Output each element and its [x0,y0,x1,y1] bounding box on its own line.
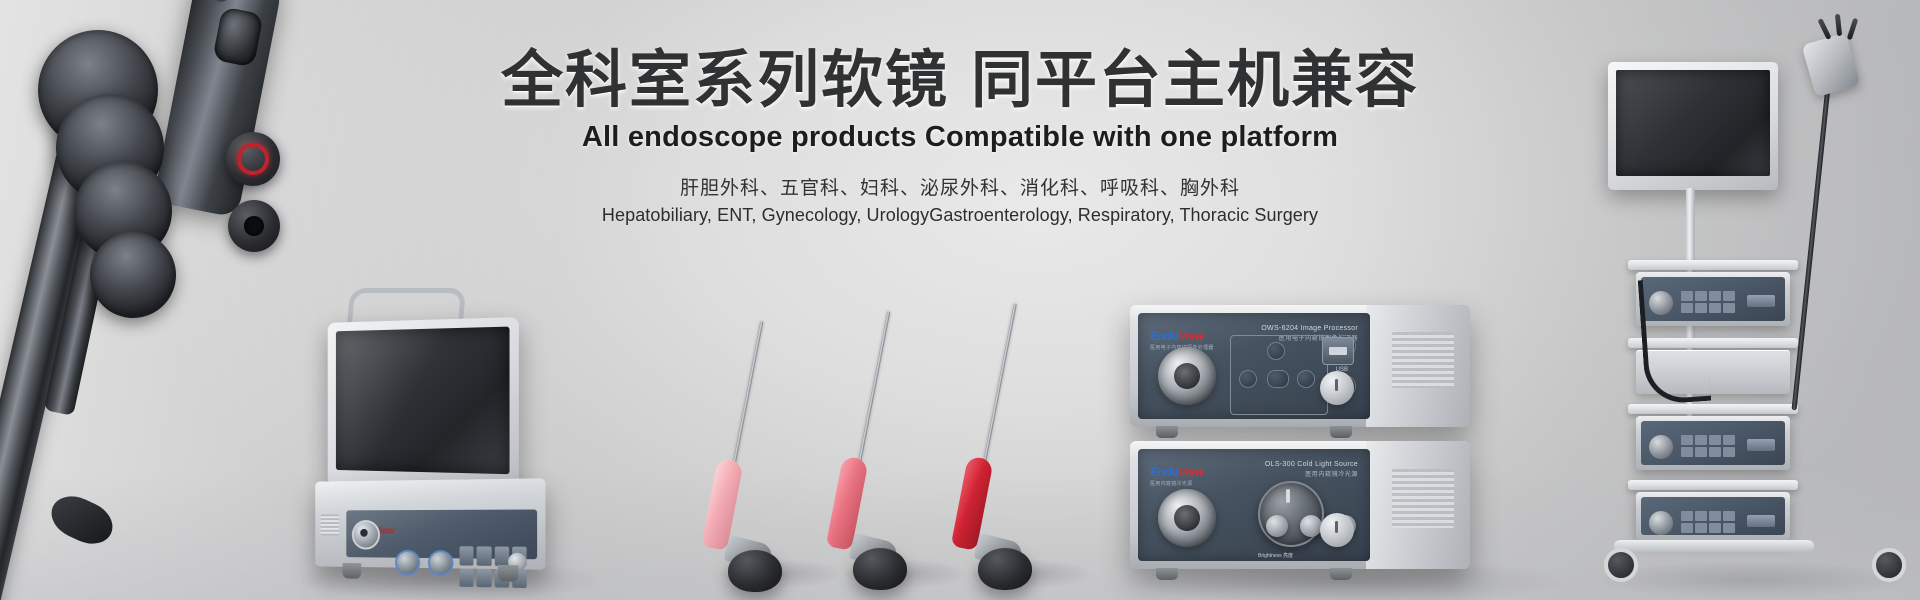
cart-shelf-top [1628,260,1798,270]
processor-side-panel [1366,305,1470,427]
processor-front-panel: EndoView医用电子内窥镜图像处理器 OWS-6204 Image Proc… [1138,313,1370,419]
processor-foot [1156,426,1178,438]
light-source-brand-subtext: 医用内窥镜冷光源 [1150,480,1204,487]
keypad-key [459,546,473,565]
light-source-scope-socket [1158,489,1216,547]
rigid-scope-red [890,300,1070,590]
cart-caster-wheel [1872,548,1906,582]
workstation-foot [498,565,519,582]
specialties-chinese: 肝胆外科、五官科、妇科、泌尿外科、消化科、呼吸科、胸外科 [0,173,1920,200]
keypad-menu-button [1267,370,1289,388]
keypad-key [1695,447,1707,457]
processor-model-en: OWS-6204 Image Processor [1261,325,1358,332]
keypad-key [1681,523,1693,533]
cart-accessory-unit [1636,492,1790,540]
scope-base-cup [978,548,1032,590]
cart-accessory-display [1747,515,1775,527]
cart-light-source-panel [1641,421,1785,465]
page-title: 全科室系列软镜同平台主机兼容 [0,46,1920,115]
keypad-key [1681,435,1693,445]
specialties-block: 肝胆外科、五官科、妇科、泌尿外科、消化科、呼吸科、胸外科 Hepatobilia… [0,173,1920,226]
keypad-key [1695,435,1707,445]
specialties-english: Hepatobiliary, ENT, Gynecology, UrologyG… [0,205,1920,226]
light-source-foot [1156,568,1178,580]
light-source-brightness-dial [1258,481,1324,547]
cart-light-source-display [1747,439,1775,451]
light-source-model-en: OLS-300 Cold Light Source [1265,461,1358,468]
workstation-base-unit: EndoView [315,478,545,569]
keypad-key [1681,511,1693,521]
workstation-foot [343,563,362,579]
workstation-dial-2 [428,550,454,576]
light-source-side-panel [1366,441,1470,569]
workstation-scope-connector [352,520,380,550]
brightness-dial-label: Brightness 亮度 [1258,552,1293,559]
cart-light-source-dial [1649,435,1673,459]
light-source-foot [1330,568,1352,580]
keypad-key [494,546,509,565]
processor-vent-grille [1392,332,1454,388]
keypad-key [1723,303,1735,313]
keypad-key [1723,291,1735,301]
cart-shelf-bottom [1628,480,1798,490]
mounted-scope-forceps [1822,18,1862,48]
keypad-up-button [1267,342,1285,360]
cart-light-source-unit [1636,416,1790,470]
keypad-key [477,546,491,565]
processor-scope-socket [1158,347,1216,405]
keypad-key [1723,435,1735,445]
promo-banner: 全科室系列软镜同平台主机兼容 All endoscope products Co… [0,0,1920,600]
cart-processor-display [1747,295,1775,307]
workstation-control-panel: EndoView [346,509,537,559]
forceps-prong [1835,14,1842,36]
subtitle: All endoscope products Compatible with o… [0,121,1920,154]
keypad-key [1709,511,1721,521]
keypad-key [459,568,473,587]
socket-center-icon [1174,363,1200,389]
light-source-standby-button [1320,513,1354,547]
cart-accessory-panel [1641,497,1785,535]
processor-usb-port [1322,337,1354,365]
keypad-left-button [1239,370,1257,388]
processor-foot [1330,426,1352,438]
cart-light-source-keypad [1681,435,1735,457]
ows-100-workstation: OWS-100 EndoView [290,298,590,588]
keypad-key [1695,523,1707,533]
headline-block: 全科室系列软镜同平台主机兼容 All endoscope products Co… [0,46,1920,154]
socket-center-icon [1174,505,1200,531]
keypad-key [1709,303,1721,313]
keypad-key [1723,511,1735,521]
cart-caster-wheel [1604,548,1638,582]
workstation-display-bezel: OWS-100 [328,317,519,491]
processor-power-button [1320,371,1354,405]
keypad-right-button [1297,370,1315,388]
image-processor-unit: EndoView医用电子内窥镜图像处理器 OWS-6204 Image Proc… [1130,305,1470,427]
workstation-vent-grille [321,514,339,535]
workstation-display-screen [336,327,510,475]
keypad-key [1709,447,1721,457]
keypad-key [1723,523,1735,533]
headline-part-1: 全科室系列软镜 [501,46,949,115]
keypad-key [1681,447,1693,457]
light-source-vent-grille [1392,469,1454,528]
cart-base-plate [1614,540,1814,552]
cart-shelf-lower [1628,404,1798,414]
keypad-key [1709,435,1721,445]
headline-part-2: 同平台主机兼容 [971,46,1419,115]
processor-light-source-stack: EndoView医用电子内窥镜图像处理器 OWS-6204 Image Proc… [1130,305,1550,585]
keypad-key [1695,511,1707,521]
processor-keypad [1230,335,1328,415]
light-source-white-button [1300,515,1322,537]
light-source-model-label: OLS-300 Cold Light Source 医用内窥镜冷光源 [1265,461,1358,478]
cart-accessory-keypad [1681,511,1735,533]
light-source-brand-logo: EndoView医用内窥镜冷光源 [1150,465,1204,487]
cart-accessory-dial [1649,511,1673,535]
keypad-key [1709,291,1721,301]
keypad-key [1723,447,1735,457]
endoscope-distal-tip [45,488,120,551]
forceps-prong [1817,18,1831,40]
keypad-key [477,568,491,587]
keypad-key [1709,523,1721,533]
light-source-blue-button [1266,515,1288,537]
light-source-front-panel: EndoView医用内窥镜冷光源 OLS-300 Cold Light Sour… [1138,449,1370,561]
forceps-prong [1847,18,1859,40]
connector-pin-icon [360,529,367,537]
light-source-model-cn: 医用内窥镜冷光源 [1265,469,1358,478]
workstation-dial-1 [395,550,420,576]
light-source-unit: EndoView医用内窥镜冷光源 OLS-300 Cold Light Sour… [1130,441,1470,569]
